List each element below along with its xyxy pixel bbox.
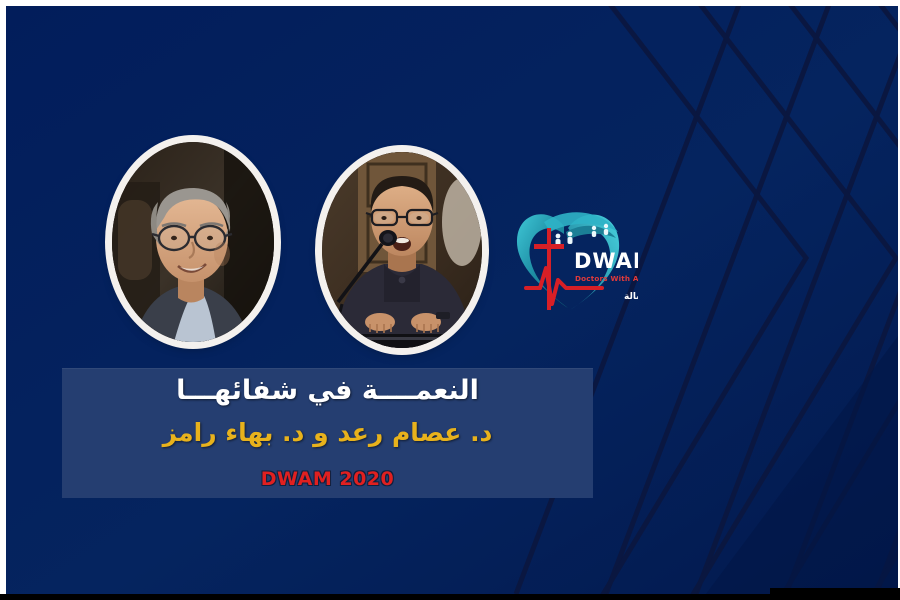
bottom-letterbox-bar [0,594,900,600]
portrait-right-photo [322,152,482,348]
event-tag: DWAM 2020 [62,468,593,490]
slide-speakers: د. عصام رعد و د. بهاء رامز [62,418,593,447]
svg-text:DWAM: DWAM [574,249,638,273]
svg-text:أطباء لأجل رسالة: أطباء لأجل رسالة [624,290,638,302]
presentation-slide: DWAM Doctors With A Mission أطباء لأجل ر… [6,6,898,594]
caption-panel: النعمــــة في شفائهـــا د. عصام رعد و د.… [62,368,593,498]
portrait-left-photo [112,142,274,342]
slide-title: النعمــــة في شفائهـــا [62,375,593,406]
portrait-left [112,142,274,342]
svg-text:Doctors With A Mission: Doctors With A Mission [575,274,638,283]
dwam-logo: DWAM Doctors With A Mission أطباء لأجل ر… [506,192,638,330]
bottom-right-letterbox-bar [770,588,900,600]
portrait-right [322,152,482,348]
